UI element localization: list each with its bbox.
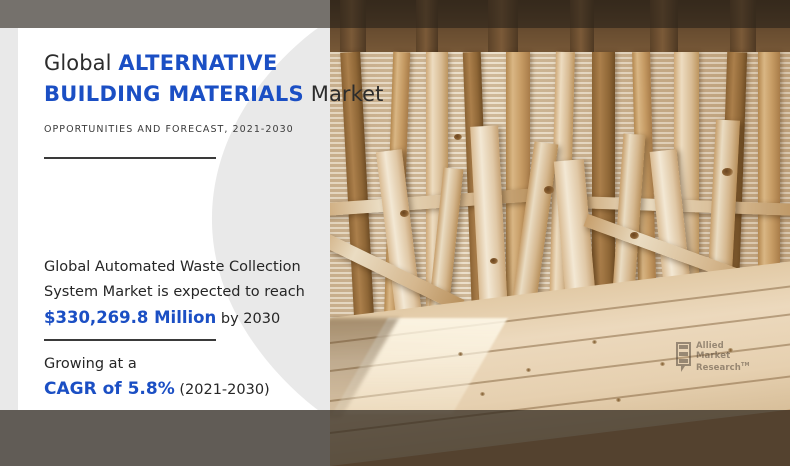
divider-top <box>44 157 216 159</box>
wood-knot <box>400 210 409 217</box>
subtitle: OPPORTUNITIES AND FORECAST, 2021-2030 <box>44 124 394 135</box>
divider-bottom <box>44 339 216 341</box>
wood-knot <box>454 134 462 140</box>
wood-knot <box>722 168 733 176</box>
floor-nail <box>592 340 597 344</box>
stat-value: $330,269.8 Million <box>44 308 216 327</box>
card-content: Global ALTERNATIVE BUILDING MATERIALS Ma… <box>44 48 394 135</box>
floor-nail <box>480 392 485 396</box>
floor-nail <box>616 398 621 402</box>
logo-line-3: ResearchTM <box>696 361 750 373</box>
title-lead: Global <box>44 51 118 75</box>
logo-line-3-text: Research <box>696 363 741 373</box>
title-trail: Market <box>304 82 384 106</box>
wood-knot <box>490 258 498 264</box>
cagr-stat: Growing at a CAGR of 5.8% (2021-2030) <box>44 352 374 403</box>
speech-bubble-icon <box>676 342 693 372</box>
cagr-lead: Growing at a <box>44 356 137 372</box>
page-title: Global ALTERNATIVE BUILDING MATERIALS Ma… <box>44 48 394 110</box>
logo-tm: TM <box>741 362 750 368</box>
stat-line-1: Global Automated Waste Collection <box>44 259 301 275</box>
allied-market-research-logo: Allied Market ResearchTM <box>676 342 750 374</box>
cagr-period: (2021-2030) <box>175 382 270 398</box>
stat-line-2: System Market is expected to reach <box>44 284 305 300</box>
stat-suffix: by 2030 <box>216 311 280 327</box>
hero-photo <box>330 0 790 466</box>
logo-wordmark: Allied Market ResearchTM <box>696 342 750 374</box>
floor-nail <box>526 368 531 372</box>
logo-line-2: Market <box>696 352 750 362</box>
bottom-overlay-band <box>0 410 790 466</box>
construction-framing-photo <box>330 0 790 466</box>
cagr-value: CAGR of 5.8% <box>44 379 175 399</box>
market-value-stat: Global Automated Waste Collection System… <box>44 255 374 332</box>
top-overlay-band <box>0 0 790 28</box>
wood-knot <box>544 186 554 194</box>
infographic-canvas: Global ALTERNATIVE BUILDING MATERIALS Ma… <box>0 0 790 466</box>
floor-nail <box>660 362 665 366</box>
wood-knot <box>630 232 639 239</box>
floor-nail <box>458 352 463 356</box>
